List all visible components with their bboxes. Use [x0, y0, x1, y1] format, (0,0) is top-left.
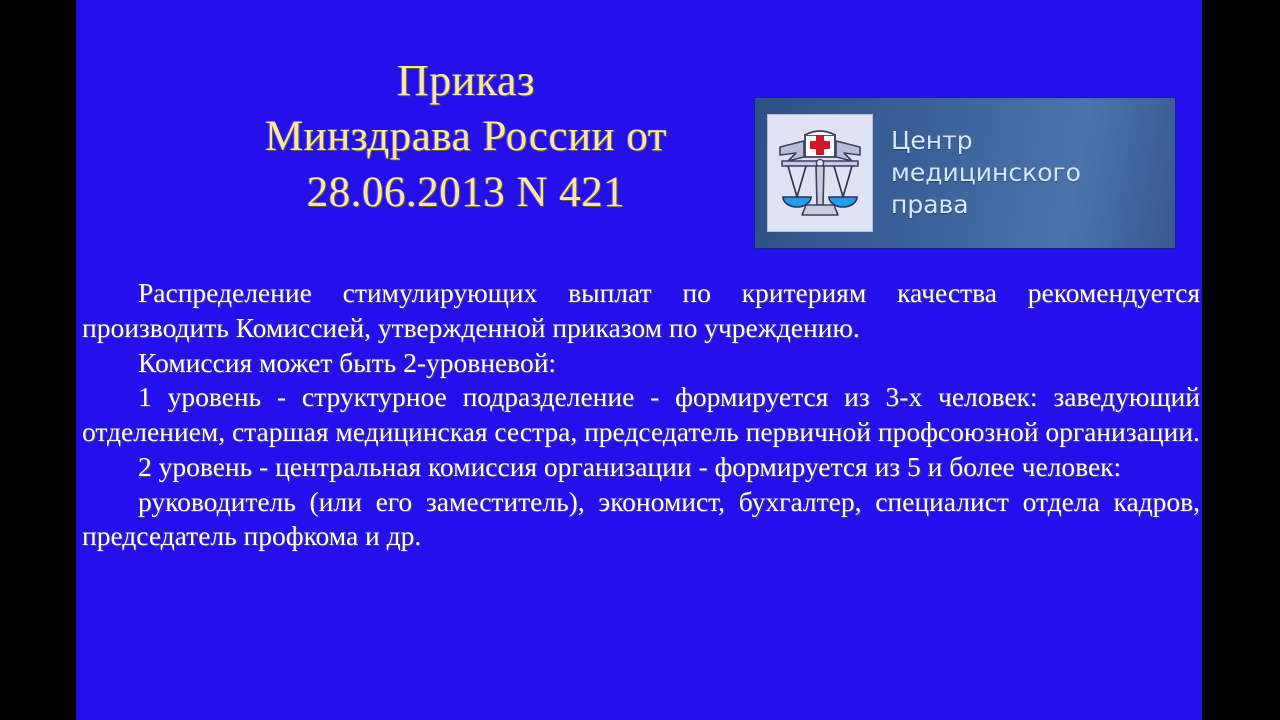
logo-text-block: Центр медицинского права — [891, 125, 1081, 221]
slide-body-text: Распределение стимулирующих выплат по кр… — [82, 276, 1200, 554]
logo-text-line-1: Центр — [891, 125, 1081, 157]
letterbox-bar-left — [0, 0, 76, 720]
title-line-2: Минздрава России от — [136, 109, 796, 165]
scales-of-justice-with-medical-cap-icon — [774, 121, 866, 225]
logo-icon-tile — [767, 114, 873, 232]
logo-text-line-2: медицинского — [891, 157, 1081, 189]
body-paragraph-4: 2 уровень - центральная комиссия организ… — [82, 450, 1200, 485]
body-paragraph-1: Распределение стимулирующих выплат по кр… — [82, 276, 1200, 346]
title-line-1: Приказ — [136, 52, 796, 109]
letterbox-bar-right — [1202, 0, 1280, 720]
body-paragraph-3: 1 уровень - структурное подразделение - … — [82, 380, 1200, 450]
body-paragraph-5: руководитель (или его заместитель), экон… — [82, 485, 1200, 555]
video-slide-frame: Приказ Минздрава России от 28.06.2013 N … — [0, 0, 1280, 720]
logo-text-line-3: права — [891, 189, 1081, 221]
title-line-3: 28.06.2013 N 421 — [136, 165, 796, 221]
slide-canvas: Приказ Минздрава России от 28.06.2013 N … — [76, 0, 1202, 720]
center-of-medical-law-logo: Центр медицинского права — [755, 98, 1175, 248]
body-paragraph-2: Комиссия может быть 2-уровневой: — [82, 346, 1200, 381]
slide-title: Приказ Минздрава России от 28.06.2013 N … — [136, 52, 796, 221]
